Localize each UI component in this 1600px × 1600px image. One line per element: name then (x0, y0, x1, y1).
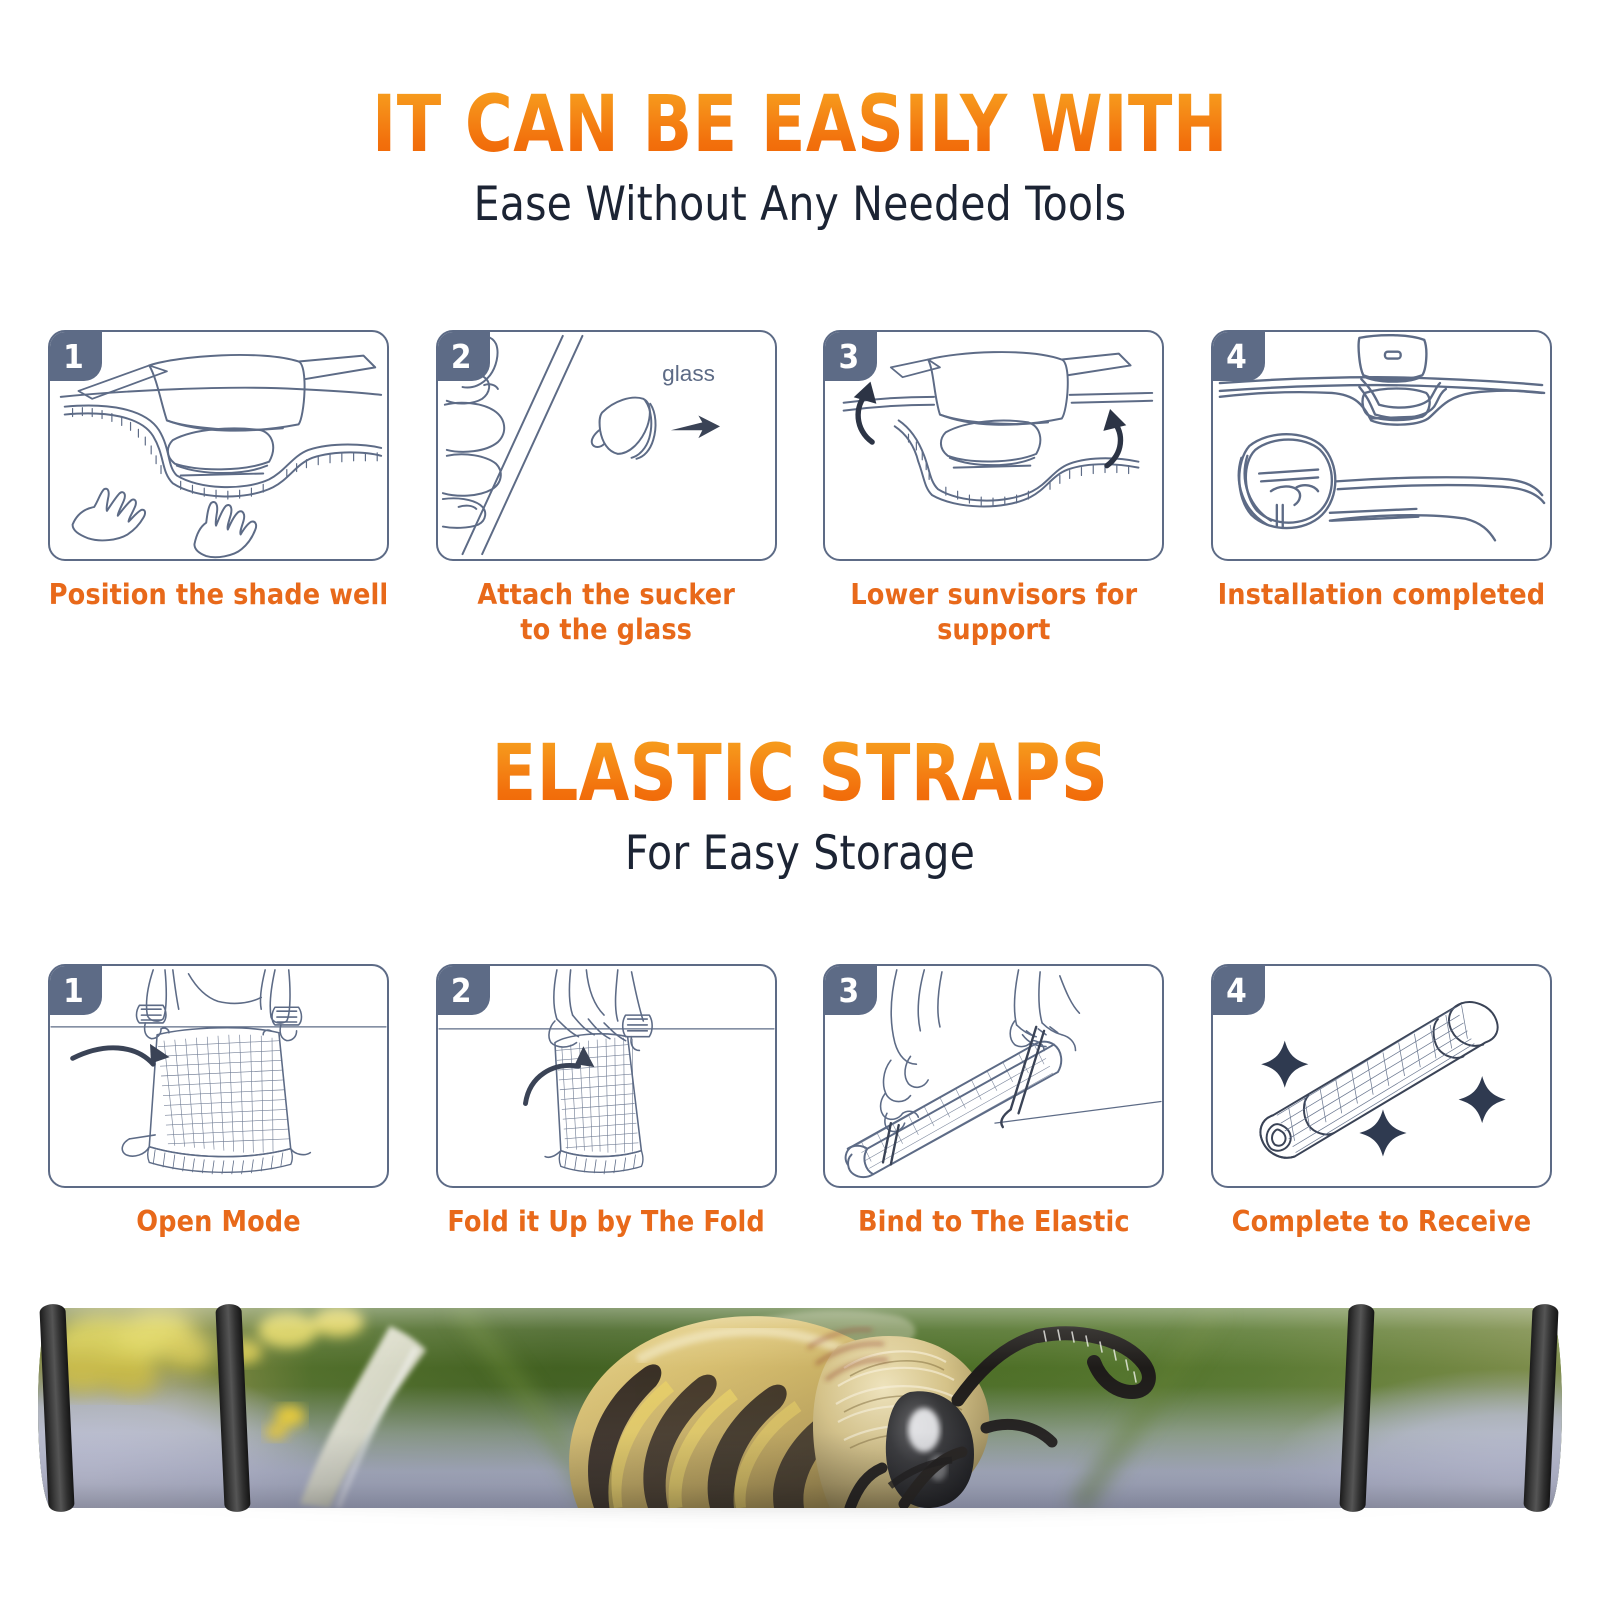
roll-surface (38, 1308, 1562, 1508)
step-illustration-panel: 1 (48, 964, 389, 1188)
section-installation-title: IT CAN BE EASILY WITH (56, 86, 1544, 164)
step-number-badge: 2 (437, 965, 490, 1015)
sparkle-icon (1459, 1076, 1506, 1123)
step-caption: Open Mode (136, 1205, 301, 1240)
fold-arrow-icon (73, 1048, 154, 1064)
fold-arrow-icon (525, 1066, 578, 1104)
step-illustration-panel: 3 (823, 964, 1164, 1188)
step-caption: Attach the sucker to the glass (477, 578, 735, 648)
step-caption: Fold it Up by The Fold (447, 1205, 764, 1240)
step-card-storage-4: 4 (1211, 964, 1552, 1240)
bee-macro-photo (38, 1308, 1562, 1508)
section-installation-subtitle: Ease Without Any Needed Tools (24, 178, 1576, 232)
step-illustration-panel: 2 (436, 964, 777, 1188)
step-illustration-panel: 2 (436, 330, 777, 561)
step-number-badge: 2 (437, 331, 490, 381)
step-caption: Lower sunvisors for support (850, 578, 1137, 648)
step-card-storage-3: 3 (823, 964, 1164, 1240)
sparkle-icon (1359, 1109, 1406, 1156)
storage-steps-row: 1 (48, 964, 1552, 1240)
sparkle-icon (1261, 1041, 1308, 1088)
step-card-install-3: 3 (823, 330, 1164, 648)
step-caption: Complete to Receive (1232, 1205, 1532, 1240)
step-card-install-2: 2 (436, 330, 777, 648)
step-number-badge: 1 (49, 965, 102, 1015)
arrow-right-icon (671, 416, 720, 439)
section-storage-title: ELASTIC STRAPS (56, 735, 1544, 813)
step-number-badge: 4 (1212, 331, 1265, 381)
section-storage-subtitle: For Easy Storage (24, 827, 1576, 881)
step-card-storage-1: 1 (48, 964, 389, 1240)
step-number-badge: 1 (49, 331, 102, 381)
step-card-install-1: 1 (48, 330, 389, 648)
step-card-storage-2: 2 (436, 964, 777, 1240)
step-illustration-panel: 3 (823, 330, 1164, 561)
step-caption: Position the shade well (49, 578, 389, 613)
section-storage-heading: ELASTIC STRAPS For Easy Storage (0, 735, 1600, 881)
step-number-badge: 4 (1212, 965, 1265, 1015)
step-illustration-panel: 1 (48, 330, 389, 561)
step-caption: Bind to The Elastic (858, 1205, 1130, 1240)
step-number-badge: 3 (824, 965, 877, 1015)
infographic-page: IT CAN BE EASILY WITH Ease Without Any N… (0, 0, 1600, 1600)
step-illustration-panel: 4 (1211, 964, 1552, 1188)
step-card-install-4: 4 (1211, 330, 1552, 648)
section-installation-heading: IT CAN BE EASILY WITH Ease Without Any N… (0, 86, 1600, 232)
step-caption: Installation completed (1218, 578, 1546, 613)
step-number-badge: 3 (824, 331, 877, 381)
glass-label: glass (662, 361, 715, 386)
product-photo-rolled-sunshade (38, 1308, 1562, 1508)
step-illustration-panel: 4 (1211, 330, 1552, 561)
installation-steps-row: 1 (48, 330, 1552, 648)
